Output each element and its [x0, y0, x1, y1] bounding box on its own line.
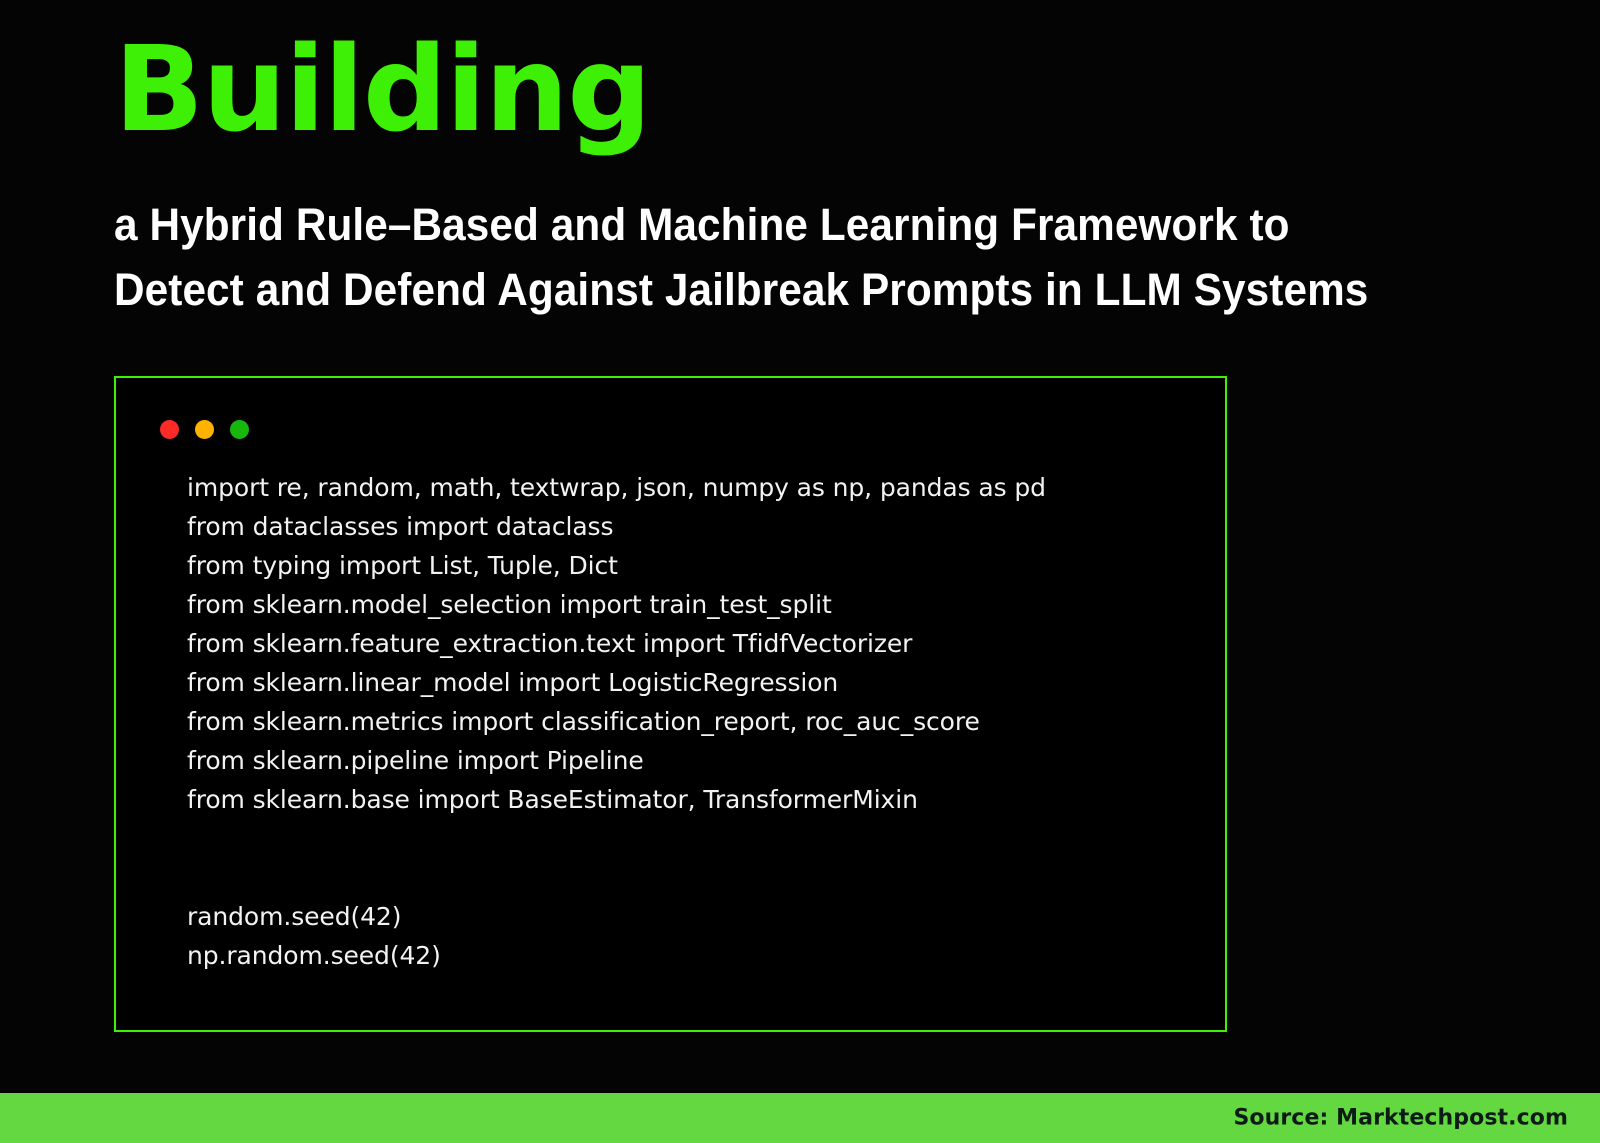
code-line: from sklearn.model_selection import trai…	[187, 585, 1205, 624]
code-line-blank	[187, 819, 1205, 858]
footer-bar: Source: Marktechpost.com	[0, 1093, 1600, 1143]
subtitle: a Hybrid Rule–Based and Machine Learning…	[114, 192, 1430, 323]
subtitle-line-2: Detect and Defend Against Jailbreak Prom…	[114, 257, 1430, 322]
maximize-dot-icon[interactable]	[230, 420, 249, 439]
headline-container: Building	[114, 28, 1514, 151]
slide-canvas: Building a Hybrid Rule–Based and Machine…	[0, 0, 1600, 1143]
code-line: from sklearn.metrics import classificati…	[187, 702, 1205, 741]
code-line: np.random.seed(42)	[187, 936, 1205, 975]
code-line: from sklearn.feature_extraction.text imp…	[187, 624, 1205, 663]
source-attribution: Source: Marktechpost.com	[1233, 1106, 1568, 1131]
code-line: import re, random, math, textwrap, json,…	[187, 468, 1205, 507]
code-line-blank	[187, 858, 1205, 897]
code-line: random.seed(42)	[187, 897, 1205, 936]
code-block: import re, random, math, textwrap, json,…	[187, 468, 1205, 975]
window-controls	[160, 420, 249, 439]
minimize-dot-icon[interactable]	[195, 420, 214, 439]
code-line: from dataclasses import dataclass	[187, 507, 1205, 546]
code-line: from sklearn.linear_model import Logisti…	[187, 663, 1205, 702]
page-title: Building	[114, 28, 1514, 151]
subtitle-line-1: a Hybrid Rule–Based and Machine Learning…	[114, 192, 1430, 257]
close-dot-icon[interactable]	[160, 420, 179, 439]
code-line: from sklearn.pipeline import Pipeline	[187, 741, 1205, 780]
code-line: from sklearn.base import BaseEstimator, …	[187, 780, 1205, 819]
code-line: from typing import List, Tuple, Dict	[187, 546, 1205, 585]
code-window: import re, random, math, textwrap, json,…	[114, 376, 1227, 1032]
